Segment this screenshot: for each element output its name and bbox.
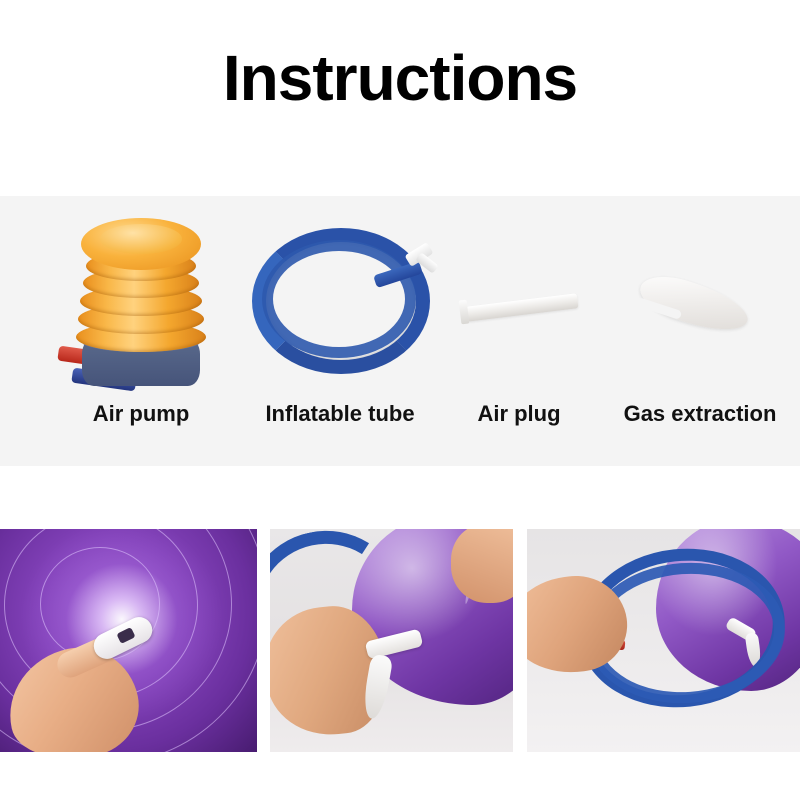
step-photo-3-content [527,529,800,752]
step-photo-2-content [270,529,513,752]
plug-flange [459,300,470,325]
air-plug-figure [452,196,586,411]
hose-inner-loop [262,240,416,358]
step-photo-attach-tube [270,529,513,752]
foot-air-pump-icon [66,204,216,404]
part-item-inflatable-tube: Inflatable tube [240,196,440,466]
part-item-air-plug: Air plug [452,196,586,466]
part-label-inflatable-tube: Inflatable tube [240,401,440,427]
step-photo-1-content [0,529,257,752]
part-item-air-pump: Air pump [58,196,224,466]
plug-shaft [466,293,579,322]
step-photo-pump-inflate [527,529,800,752]
part-item-gas-extraction: Gas extraction [600,196,800,466]
air-pump-figure [58,196,224,411]
inflatable-tube-figure [240,196,440,411]
pump-top-cap-inner [100,224,182,254]
step-photo-deflation-tool [0,529,257,752]
coiled-hose-icon [246,216,436,376]
part-label-air-plug: Air plug [452,401,586,427]
gas-extraction-figure [600,196,800,411]
parts-section: Air pump Inflatable tube [0,196,800,466]
part-label-air-pump: Air pump [58,401,224,427]
parts-row: Air pump Inflatable tube [0,196,800,466]
part-label-gas-extraction: Gas extraction [600,401,800,427]
page-title: Instructions [0,46,800,110]
second-hand [451,529,513,603]
forked-deflation-tool-icon [622,270,762,350]
tapered-plug-icon [456,282,584,342]
